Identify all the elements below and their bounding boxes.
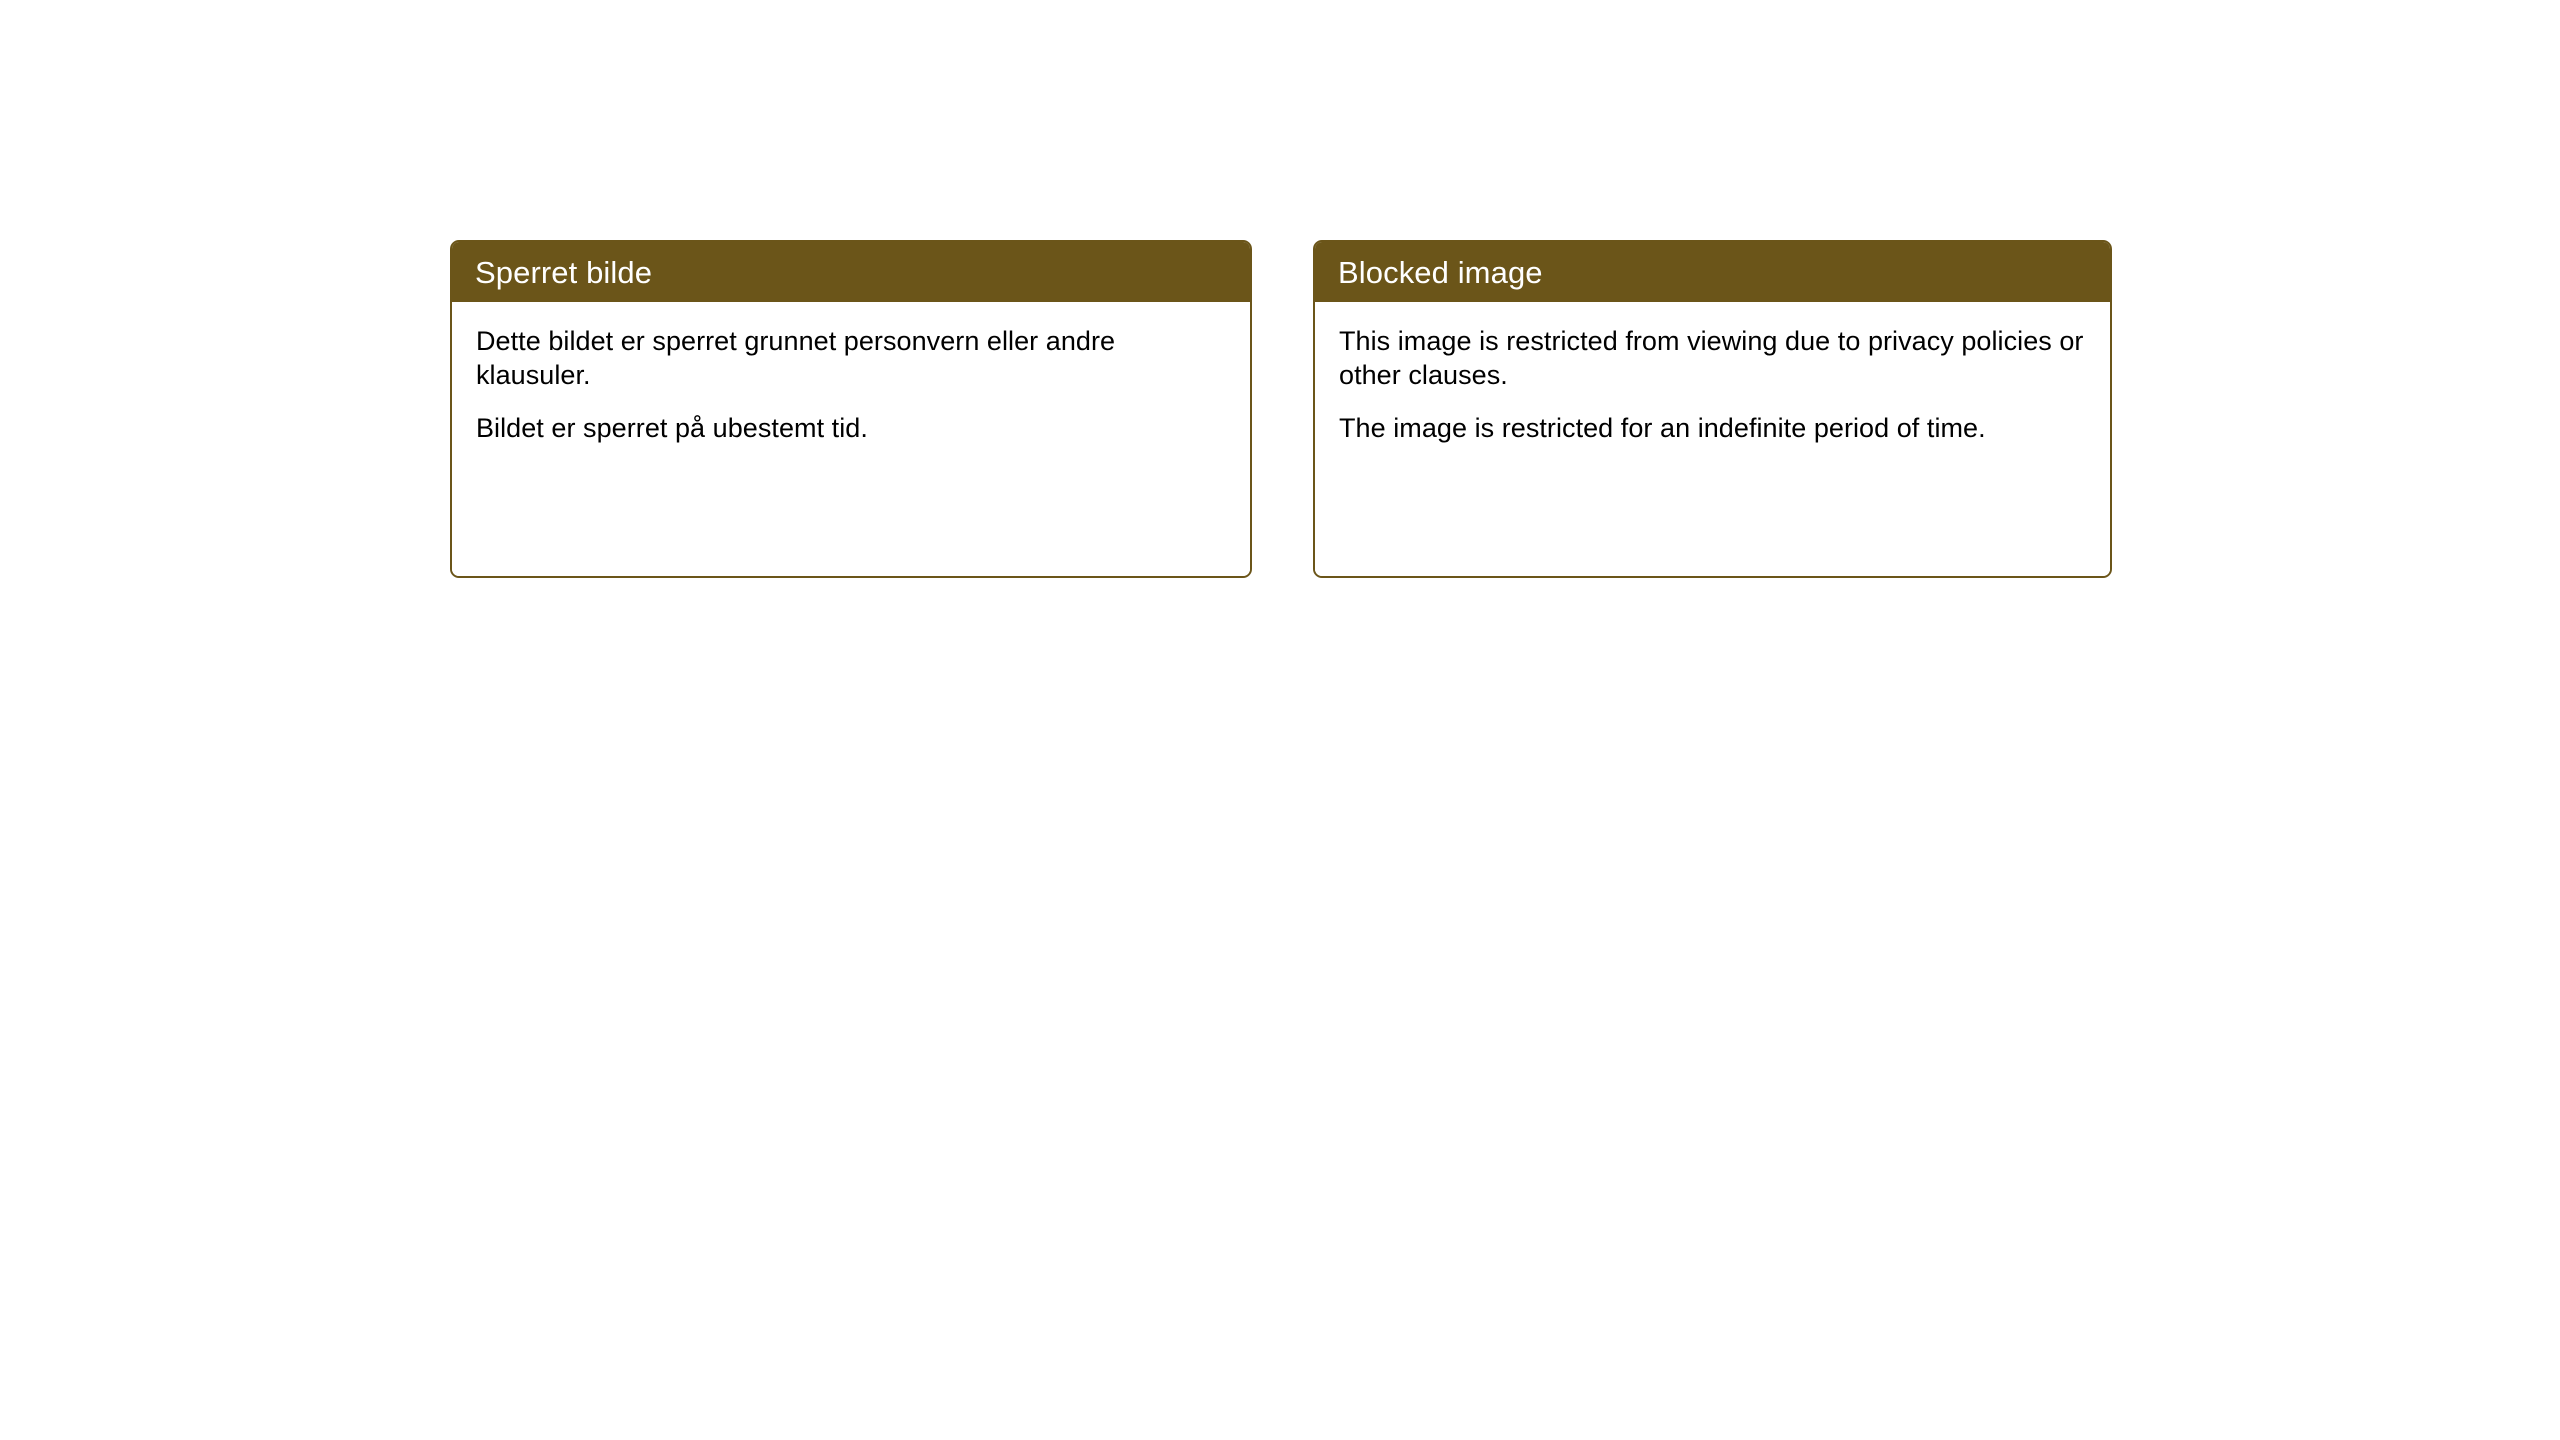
screen-canvas: Sperret bilde Dette bildet er sperret gr… (0, 0, 2560, 1440)
card-title-english: Blocked image (1338, 257, 1543, 288)
blocked-image-card-norwegian: Sperret bilde Dette bildet er sperret gr… (450, 240, 1252, 578)
blocked-image-card-english: Blocked image This image is restricted f… (1313, 240, 2112, 578)
card-body-english: This image is restricted from viewing du… (1315, 302, 2110, 576)
card-body-norwegian: Dette bildet er sperret grunnet personve… (452, 302, 1250, 576)
card-title-norwegian: Sperret bilde (475, 257, 652, 288)
card-header-english: Blocked image (1315, 242, 2110, 302)
card-paragraph-duration-norwegian: Bildet er sperret på ubestemt tid. (476, 411, 1224, 445)
card-header-norwegian: Sperret bilde (452, 242, 1250, 302)
card-paragraph-reason-norwegian: Dette bildet er sperret grunnet personve… (476, 324, 1224, 392)
notice-card-deck: Sperret bilde Dette bildet er sperret gr… (450, 240, 2112, 578)
card-paragraph-reason-english: This image is restricted from viewing du… (1339, 324, 2084, 392)
card-paragraph-duration-english: The image is restricted for an indefinit… (1339, 411, 2084, 445)
